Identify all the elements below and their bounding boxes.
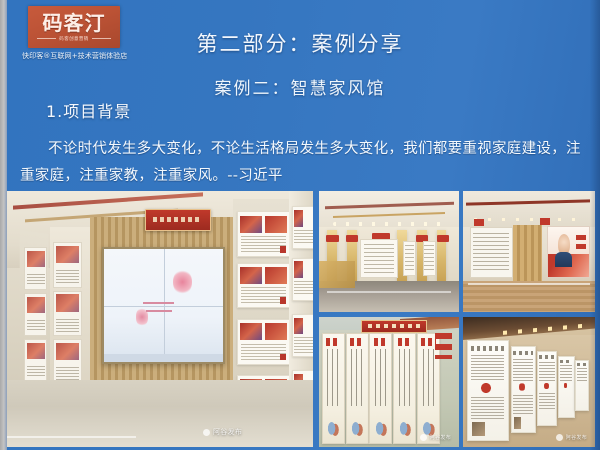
scroll-banner [346, 333, 369, 444]
red-title-tag [437, 235, 450, 242]
photo-gold-column-hall [319, 191, 459, 312]
screen-text-line [143, 302, 174, 304]
scroll-banner [369, 333, 392, 444]
body-paragraph: 不论时代发生多大变化，不论生活格局发生多大变化，我们都要重视家庭建设，注重家庭，… [20, 136, 586, 190]
exhibit-board [360, 239, 398, 277]
poster-board [237, 211, 291, 257]
exhibit-panel [558, 356, 575, 418]
red-title-tag [540, 218, 551, 225]
scroll-banner [393, 333, 416, 444]
red-title-tag [474, 219, 485, 226]
screen-text-line [146, 310, 172, 312]
section-heading: 1.项目背景 [46, 98, 131, 122]
exhibit-board [423, 241, 436, 277]
floor-light-strip [327, 291, 450, 293]
text-exhibit-board [470, 227, 513, 277]
video-wall-screen [102, 247, 225, 364]
poster-title-text [576, 235, 587, 252]
presentation-slide: 码客汀 码客创意营销 快印客®互联网+技术营销体验店 第二部分：案例分享 案例二… [0, 0, 600, 450]
screen-taskbar [104, 354, 223, 362]
photo-grid: 阿谷发布 [7, 191, 595, 447]
floor-light-strip [468, 283, 589, 285]
slide-subtitle: 案例二：智慧家风馆 [0, 74, 600, 99]
red-hall-sign [361, 320, 427, 334]
red-calligraphy-character [435, 333, 452, 359]
floor [7, 380, 313, 447]
poster-board [237, 263, 291, 309]
ceiling-spotlights [333, 222, 445, 226]
photo-wood-wall-screen-hall [463, 191, 595, 312]
wall-panel [53, 242, 83, 288]
hall-scene: 阿谷发布 [463, 317, 595, 447]
wall-panel [24, 339, 47, 382]
exhibit-panel [511, 346, 537, 434]
poster-board [292, 258, 313, 301]
portrait-body [555, 252, 572, 267]
slide-title: 第二部分：案例分享 [0, 28, 600, 58]
portrait-poster-screen [547, 226, 590, 278]
hall-name-plaque [145, 209, 211, 231]
photo-main-exhibition-hall: 阿谷发布 [7, 191, 313, 447]
page-left-edge [0, 0, 7, 450]
photo-white-panel-wall: 阿谷发布 [463, 317, 595, 447]
exhibit-panel [575, 360, 589, 411]
screen-seam-horizontal [104, 306, 223, 307]
poster-board [292, 206, 313, 249]
photo-scroll-banner-wall: 阿谷发布 [319, 317, 459, 447]
hall-scene [463, 191, 595, 312]
wall-panel [53, 291, 83, 337]
red-title-tag [346, 235, 359, 242]
hall-scene: 阿谷发布 [319, 317, 459, 447]
exhibit-panel [537, 351, 557, 426]
wall-panel [24, 293, 47, 336]
wood-slat-wall [513, 225, 542, 286]
scroll-banner [322, 333, 345, 444]
exhibit-board [403, 241, 416, 277]
wall-panel [53, 339, 83, 385]
screen-graphic [173, 270, 192, 295]
poster-board [237, 319, 291, 365]
hall-scene [319, 191, 459, 312]
red-title-tag [326, 235, 339, 242]
wall-panel [24, 247, 47, 290]
hall-scene [7, 191, 313, 447]
poster-board [292, 314, 313, 357]
ceiling-spotlights [474, 218, 585, 221]
exhibit-panel [467, 340, 509, 441]
gold-railing [319, 261, 355, 288]
page-right-edge [590, 0, 600, 450]
